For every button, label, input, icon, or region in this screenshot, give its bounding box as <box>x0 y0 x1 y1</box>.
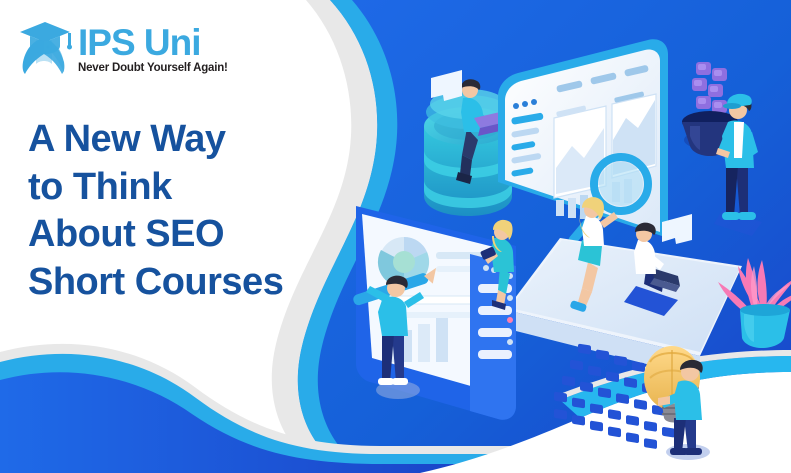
headline-line-3: About SEO <box>28 211 358 259</box>
headline-line-2: to Think <box>28 164 358 212</box>
page-title: A New Way to Think About SEO Short Cours… <box>28 116 358 306</box>
logo[interactable]: IPS Uni Never Doubt Yourself Again! <box>14 18 254 80</box>
logo-tagline: Never Doubt Yourself Again! <box>78 63 228 75</box>
graduation-cap-book-icon <box>14 20 76 78</box>
headline-line-1: A New Way <box>28 116 358 164</box>
chat-bubble-top <box>431 70 462 101</box>
headline-line-4: Short Courses <box>28 259 358 307</box>
logo-title: IPS Uni <box>78 24 228 61</box>
banner: IPS Uni Never Doubt Yourself Again! A Ne… <box>0 0 791 473</box>
